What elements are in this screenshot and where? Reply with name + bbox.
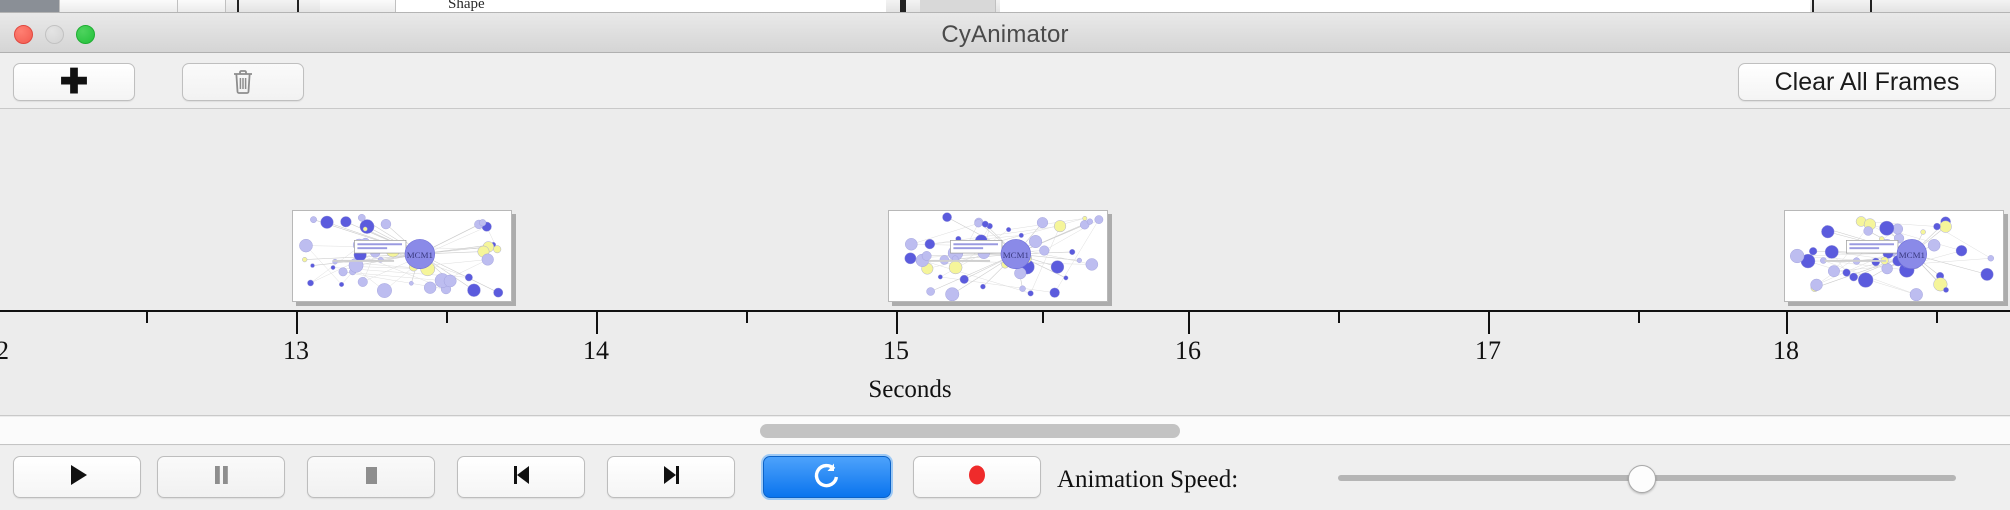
axis-tick-major: [1786, 312, 1788, 334]
axis-tick-label: 13: [283, 336, 309, 366]
axis-tick-label: 12: [0, 336, 9, 366]
svg-text:MCM1: MCM1: [407, 250, 433, 260]
bg-mark: [900, 0, 906, 13]
axis-tick-major: [296, 312, 298, 334]
axis-tick-label: 18: [1773, 336, 1799, 366]
play-button[interactable]: [13, 456, 141, 498]
pause-icon: [206, 460, 236, 495]
axis-tick-minor: [146, 312, 148, 323]
window-title: CyAnimator: [0, 21, 2010, 49]
frame-toolbar: ✚ Clear All Frames: [0, 53, 2010, 109]
clear-all-frames-button[interactable]: Clear All Frames: [1738, 63, 1996, 101]
timeline-axis: [0, 310, 2010, 312]
title-bar[interactable]: CyAnimator: [0, 13, 2010, 53]
frame-thumbnail[interactable]: MCM1: [888, 210, 1108, 302]
delete-frame-button[interactable]: [182, 63, 304, 101]
cyanimator-window: Shape CyAnimator ✚ Clear All Frames: [0, 0, 2010, 510]
axis-tick-minor: [1638, 312, 1640, 323]
axis-tick-minor: [1338, 312, 1340, 323]
axis-tick-major: [596, 312, 598, 334]
skip-back-icon: [506, 460, 536, 495]
axis-title: Seconds: [0, 376, 2010, 404]
record-icon: [962, 460, 992, 495]
axis-title-text: Seconds: [868, 376, 951, 403]
skip-forward-icon: [656, 460, 686, 495]
axis-tick-label: 16: [1175, 336, 1201, 366]
bg-tab: [60, 0, 178, 13]
frame-thumbnails: MCM1 MCM1 MCM1: [0, 110, 2010, 310]
skip-to-start-button[interactable]: [457, 456, 585, 498]
bg-tab: [178, 0, 226, 13]
skip-to-end-button[interactable]: [607, 456, 735, 498]
axis-tick-minor: [746, 312, 748, 323]
svg-text:MCM1: MCM1: [1899, 250, 1925, 260]
axis-tick-major: [1188, 312, 1190, 334]
loop-icon: [812, 460, 842, 495]
bg-mark: [1870, 0, 1872, 13]
record-button[interactable]: [913, 456, 1041, 498]
trash-icon: [232, 69, 254, 95]
bg-mark: [1812, 0, 1814, 13]
axis-tick-label: 14: [583, 336, 609, 366]
play-icon: [62, 460, 92, 495]
axis-tick-minor: [1042, 312, 1044, 323]
bg-mark: [297, 0, 299, 13]
axis-tick-major: [1488, 312, 1490, 334]
bg-tab: [920, 0, 996, 13]
plus-icon: ✚: [60, 65, 89, 99]
bg-tab: [320, 0, 396, 13]
animation-speed-slider-thumb[interactable]: [1628, 465, 1656, 493]
bg-selected-tab: [0, 0, 60, 13]
timeline-scrollbar[interactable]: [0, 417, 2010, 445]
svg-text:MCM1: MCM1: [1003, 250, 1029, 260]
axis-tick-label: 17: [1475, 336, 1501, 366]
animation-speed-label: Animation Speed:: [1057, 466, 1238, 494]
loop-button[interactable]: [763, 456, 891, 498]
stop-button[interactable]: [307, 456, 435, 498]
playback-bar: Animation Speed:: [0, 446, 2010, 510]
bg-mark: [237, 0, 239, 13]
frame-thumbnail[interactable]: MCM1: [292, 210, 512, 302]
bg-panel: [1000, 0, 1810, 13]
scrollbar-thumb[interactable]: [760, 424, 1180, 438]
axis-tick-label: 15: [883, 336, 909, 366]
frame-thumbnail[interactable]: MCM1: [1784, 210, 2004, 302]
pause-button[interactable]: [157, 456, 285, 498]
stop-icon: [356, 460, 386, 495]
axis-tick-minor: [1936, 312, 1938, 323]
timeline-panel[interactable]: MCM1 MCM1 MCM1 12131415161718 Seconds: [0, 110, 2010, 416]
add-frame-button[interactable]: ✚: [13, 63, 135, 101]
background-window-strip: Shape: [0, 0, 2010, 13]
axis-tick-minor: [446, 312, 448, 323]
axis-tick-major: [896, 312, 898, 334]
bg-window-label: Shape: [448, 0, 485, 13]
